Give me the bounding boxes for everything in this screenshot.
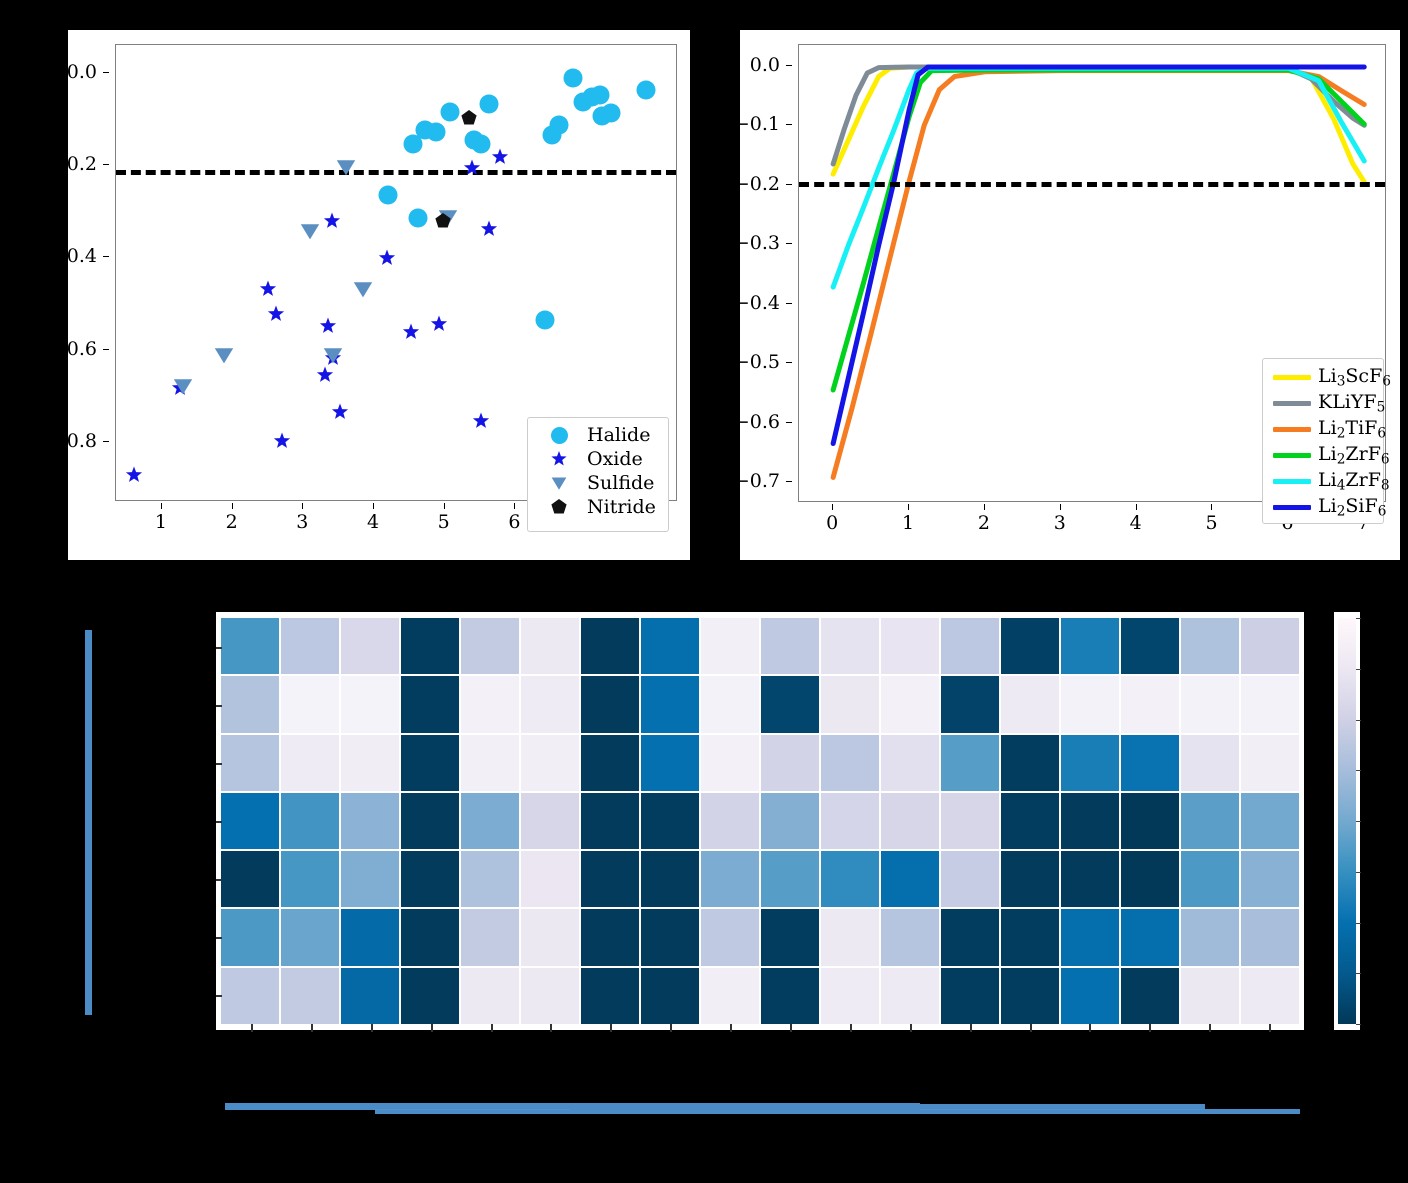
panel-b-xtick-mark <box>1136 504 1137 510</box>
colorbar-tick-label: −125 <box>1356 861 1408 883</box>
scatter-point-oxide <box>431 316 448 333</box>
heatmap-cell <box>401 676 459 732</box>
panel-b-xtick-mark <box>1211 504 1212 510</box>
heatmap-cell <box>881 968 939 1024</box>
scatter-point-halide <box>591 85 610 104</box>
scatter-point-nitride <box>461 110 477 126</box>
scatter-point-oxide <box>274 433 291 450</box>
panel-b-xtick-label: 4 <box>1130 512 1142 534</box>
panel-b-ytick-label: −0.6 <box>734 411 780 433</box>
heatmap-cell <box>941 909 999 965</box>
heatmap-cell <box>1181 735 1239 791</box>
legend-line-Li3ScF6 <box>1272 375 1312 380</box>
heatmap-cell <box>761 851 819 907</box>
heatmap-cell <box>521 735 579 791</box>
heatmap-cell <box>821 909 879 965</box>
legend-line-Li2ZrF6 <box>1272 453 1312 458</box>
legend-item-sulfide: Sulfide <box>537 471 659 495</box>
heatmap-cell <box>1061 851 1119 907</box>
heatmap-cell <box>1121 618 1179 674</box>
scatter-point-oxide <box>402 324 419 341</box>
heatmap-cell <box>461 676 519 732</box>
heatmap-col-tick <box>371 1024 373 1032</box>
heatmap-cell <box>701 968 759 1024</box>
panel-a-threshold-line <box>116 170 676 175</box>
scatter-point-oxide <box>259 280 276 297</box>
heatmap-cell <box>941 676 999 732</box>
legend-triangle-down-icon <box>551 475 567 491</box>
heatmap-col-ticks <box>221 1024 1299 1036</box>
heatmap-cell <box>1121 909 1179 965</box>
scatter-point-sulfide <box>214 345 234 365</box>
colorbar-tick-label: −175 <box>1356 962 1408 984</box>
heatmap-cell <box>1241 968 1299 1024</box>
scatter-point-sulfide <box>300 221 320 241</box>
panel-b-legend: Li3ScF6KLiYF5Li2TiF6Li2ZrF6Li4ZrF8Li2SiF… <box>1262 358 1384 524</box>
heatmap-cell <box>1061 676 1119 732</box>
heatmap-cell <box>701 909 759 965</box>
scatter-point-halide <box>564 69 583 88</box>
panel-a-ytick-label: 0.0 <box>67 61 97 83</box>
scatter-point-sulfide <box>353 279 373 299</box>
legend-marker-nitride <box>537 499 581 515</box>
scatter-point-oxide <box>473 413 490 430</box>
scatter-point-halide <box>379 186 398 205</box>
legend-label-Li2SiF6: Li2SiF6 <box>1318 495 1386 519</box>
heatmap-cell <box>221 968 279 1024</box>
heatmap-cell <box>281 793 339 849</box>
panel-a-xtick-label: 5 <box>438 511 450 533</box>
scatter-point-halide <box>472 135 491 154</box>
panel-b-xtick-mark <box>1060 504 1061 510</box>
scatter-point-oxide <box>431 316 448 333</box>
panel-b-xtick-label: 1 <box>902 512 914 534</box>
heatmap-cell <box>1241 618 1299 674</box>
panel-a-xtick-mark <box>302 503 303 509</box>
heatmap-cell <box>401 968 459 1024</box>
heatmap-cell <box>1001 735 1059 791</box>
heatmap-cell <box>821 735 879 791</box>
scatter-point-sulfide <box>214 345 234 365</box>
panel-b-ytick-mark <box>786 65 792 66</box>
panel-b-ytick-label: −0.3 <box>734 232 780 254</box>
scatter-point-oxide <box>332 403 349 420</box>
heatmap-cell <box>461 851 519 907</box>
scatter-point-oxide <box>316 367 333 384</box>
heatmap-cell <box>1121 851 1179 907</box>
heatmap-row-tick <box>216 937 222 939</box>
heatmap-cell <box>341 851 399 907</box>
colorbar-tick-label: −25 <box>1356 658 1403 680</box>
legend-line-Li2TiF6 <box>1272 427 1312 432</box>
colorbar-tick-label: −150 <box>1356 912 1408 934</box>
legend-marker-sulfide <box>537 475 581 491</box>
heatmap-cell <box>521 618 579 674</box>
panel-b-ytick-mark <box>786 481 792 482</box>
heatmap-cell <box>581 735 639 791</box>
heatmap-cell <box>1241 909 1299 965</box>
heatmap-col-tick <box>251 1024 253 1032</box>
heatmap-col-tick <box>790 1024 792 1032</box>
heatmap-cell <box>461 735 519 791</box>
colorbar-ticks: 0−25−50−75−100−125−150−175−200 <box>1338 618 1356 1024</box>
heatmap-cell <box>881 793 939 849</box>
scatter-point-halide <box>479 95 498 114</box>
heatmap-cell <box>881 851 939 907</box>
heatmap-cell <box>221 851 279 907</box>
scatter-point-sulfide <box>353 279 373 299</box>
heatmap-cell <box>1181 968 1239 1024</box>
heatmap-cell <box>1121 676 1179 732</box>
scatter-point-sulfide <box>173 376 193 396</box>
heatmap-cell <box>221 909 279 965</box>
heatmap-cell <box>701 618 759 674</box>
heatmap-cell <box>581 618 639 674</box>
heatmap-col-tick <box>491 1024 493 1032</box>
scatter-point-oxide <box>480 220 497 237</box>
heatmap-cell <box>881 676 939 732</box>
line-Li2ZrF6 <box>833 70 1364 390</box>
legend-line-swatch-Li2ZrF6 <box>1273 453 1311 458</box>
heatmap-cell <box>881 909 939 965</box>
heatmap-cell <box>1121 968 1179 1024</box>
heatmap-col-tick <box>1209 1024 1211 1032</box>
legend-star-icon <box>551 451 567 467</box>
heatmap-cell <box>341 793 399 849</box>
heatmap-cell <box>941 851 999 907</box>
legend-line-swatch-Li2TiF6 <box>1273 427 1311 432</box>
colorbar-tick-label: −50 <box>1356 709 1403 731</box>
legend-label-halide: Halide <box>587 424 650 446</box>
scatter-point-oxide <box>378 250 395 267</box>
heatmap-col-tick <box>1269 1024 1271 1032</box>
panel-b-ytick-mark <box>786 124 792 125</box>
heatmap-cell <box>581 793 639 849</box>
scatter-point-sulfide <box>323 345 343 365</box>
scatter-point-oxide <box>463 160 480 177</box>
colorbar-tick-label: −75 <box>1356 759 1403 781</box>
heatmap-cell <box>761 968 819 1024</box>
heatmap-col-tick <box>311 1024 313 1032</box>
heatmap-col-tick <box>1089 1024 1091 1032</box>
heatmap-cell <box>1181 793 1239 849</box>
heatmap-cell <box>521 793 579 849</box>
heatmap-row-ticks <box>216 618 222 1024</box>
heatmap-cell <box>1121 793 1179 849</box>
panel-a-xtick-label: 3 <box>296 511 308 533</box>
legend-item-halide: Halide <box>537 423 659 447</box>
heatmap-cell <box>1181 851 1239 907</box>
heatmap-cell <box>521 676 579 732</box>
heatmap-cell <box>341 968 399 1024</box>
scatter-point-halide <box>550 115 569 134</box>
heatmap-cell <box>821 968 879 1024</box>
scatter-point-oxide <box>323 213 340 230</box>
heatmap-cell <box>521 909 579 965</box>
panel-a-ytick-label: −0.6 <box>51 338 97 360</box>
heatmap-cell <box>1181 676 1239 732</box>
panel-a-xtick-mark <box>373 503 374 509</box>
heatmap-cell <box>581 851 639 907</box>
scatter-point-oxide <box>125 467 142 484</box>
heatmap-cell <box>401 735 459 791</box>
legend-label-Li2TiF6: Li2TiF6 <box>1318 417 1386 441</box>
heatmap-cell <box>221 793 279 849</box>
legend-label-Li4ZrF8: Li4ZrF8 <box>1318 469 1390 493</box>
panel-b-ytick-mark <box>786 243 792 244</box>
heatmap-cell <box>341 735 399 791</box>
legend-label-KLiYF5: KLiYF5 <box>1318 391 1385 415</box>
scatter-point-oxide <box>323 213 340 230</box>
heatmap-cell <box>1061 793 1119 849</box>
heatmap-cell <box>1001 851 1059 907</box>
legend-marker-halide <box>537 427 581 444</box>
heatmap-cell <box>1061 618 1119 674</box>
heatmap-cell <box>761 676 819 732</box>
heatmap-cell <box>281 676 339 732</box>
legend-line-swatch-Li4ZrF8 <box>1273 479 1311 484</box>
scatter-point-oxide <box>268 305 285 322</box>
scatter-point-halide <box>536 310 555 329</box>
panel-b-ytick-label: −0.7 <box>734 470 780 492</box>
legend-triangle-down-icon <box>551 475 567 491</box>
legend-circle-icon <box>551 427 568 444</box>
panel-a-ytick-label: −0.4 <box>51 245 97 267</box>
heatmap-cell <box>461 793 519 849</box>
panel-b-threshold-line <box>799 182 1385 187</box>
legend-line-Li2SiF6 <box>1272 505 1312 510</box>
heatmap-row-tick <box>216 879 222 881</box>
heatmap-cell <box>461 909 519 965</box>
scatter-point-oxide <box>480 220 497 237</box>
scatter-point-oxide <box>125 467 142 484</box>
heatmap-cell <box>1181 909 1239 965</box>
heatmap-cell <box>1241 676 1299 732</box>
panel-a-ytick-mark <box>103 441 109 442</box>
heatmap-cell <box>221 676 279 732</box>
legend-star-icon <box>551 451 567 467</box>
scatter-point-oxide <box>491 148 508 165</box>
heatmap-cell <box>761 618 819 674</box>
panel-b-ytick-mark <box>786 362 792 363</box>
panel-a-ytick-label: −0.8 <box>51 430 97 452</box>
legend-item-Li4ZrF8: Li4ZrF8 <box>1272 468 1374 494</box>
legend-item-Li3ScF6: Li3ScF6 <box>1272 364 1374 390</box>
panel-a-xtick-mark <box>161 503 162 509</box>
scatter-point-oxide <box>402 324 419 341</box>
panel-b-ytick-label: −0.5 <box>734 351 780 373</box>
heatmap-cell <box>761 735 819 791</box>
scatter-point-oxide <box>491 148 508 165</box>
legend-line-KLiYF5 <box>1272 401 1312 406</box>
heatmap-cell <box>1001 676 1059 732</box>
scatter-point-halide <box>427 122 446 141</box>
heatmap-cell <box>761 793 819 849</box>
heatmap-cell <box>641 676 699 732</box>
legend-marker-oxide <box>537 451 581 467</box>
heatmap-cell <box>461 618 519 674</box>
heatmap-colorbar: 0−25−50−75−100−125−150−175−200 <box>1338 618 1356 1024</box>
panel-b-ytick-area: 0.0−0.1−0.2−0.3−0.4−0.5−0.6−0.7 <box>740 44 792 502</box>
heatmap-cell <box>941 735 999 791</box>
heatmap-grid <box>221 618 1299 1024</box>
panel-b-xtick-mark <box>908 504 909 510</box>
heatmap-cell <box>581 909 639 965</box>
heatmap-cell <box>641 735 699 791</box>
heatmap-cell <box>401 618 459 674</box>
heatmap-cell <box>1061 909 1119 965</box>
heatmap-cell <box>281 735 339 791</box>
scatter-point-oxide <box>259 280 276 297</box>
panel-a-xtick-label: 6 <box>508 511 520 533</box>
heatmap-cell <box>341 909 399 965</box>
panel-b-ytick-mark <box>786 184 792 185</box>
heatmap-cell <box>821 676 879 732</box>
scatter-point-nitride <box>435 213 451 229</box>
legend-line-swatch-KLiYF5 <box>1273 401 1311 406</box>
legend-item-oxide: Oxide <box>537 447 659 471</box>
heatmap-cell <box>1061 735 1119 791</box>
legend-label-nitride: Nitride <box>587 496 656 518</box>
heatmap-col-tick <box>850 1024 852 1032</box>
scatter-point-halide <box>637 81 656 100</box>
heatmap-cell <box>581 968 639 1024</box>
heatmap-cell <box>1001 793 1059 849</box>
heatmap-cell <box>701 793 759 849</box>
heatmap-cell <box>1001 618 1059 674</box>
heatmap-cell <box>941 968 999 1024</box>
legend-label-sulfide: Sulfide <box>587 472 654 494</box>
heatmap-cell <box>221 618 279 674</box>
heatmap-cell <box>401 909 459 965</box>
legend-item-Li2ZrF6: Li2ZrF6 <box>1272 442 1374 468</box>
legend-item-Li2TiF6: Li2TiF6 <box>1272 416 1374 442</box>
heatmap-col-tick <box>610 1024 612 1032</box>
legend-pentagon-icon <box>551 499 567 515</box>
heatmap-cell <box>641 909 699 965</box>
heatmap-cell <box>821 851 879 907</box>
panel-a-xtick-label: 2 <box>226 511 238 533</box>
heatmap-row-tick <box>216 763 222 765</box>
heatmap-cell <box>881 735 939 791</box>
heatmap-cell <box>881 618 939 674</box>
heatmap-cell <box>821 618 879 674</box>
scatter-point-sulfide <box>173 376 193 396</box>
legend-label-Li3ScF6: Li3ScF6 <box>1318 365 1391 389</box>
heatmap-cell <box>1121 735 1179 791</box>
panel-b-ytick-label: −0.4 <box>734 292 780 314</box>
legend-line-swatch-Li2SiF6 <box>1273 505 1311 510</box>
heatmap-col-tick <box>550 1024 552 1032</box>
panel-a-xtick-label: 1 <box>155 511 167 533</box>
legend-item-nitride: Nitride <box>537 495 659 519</box>
panel-a-xtick-label: 4 <box>367 511 379 533</box>
scatter-point-sulfide <box>336 157 356 177</box>
heatmap-col-tick <box>670 1024 672 1032</box>
legend-label-oxide: Oxide <box>587 448 643 470</box>
heatmap-row-tick <box>216 647 222 649</box>
heatmap-cell <box>521 968 579 1024</box>
heatmap-ylabel-mask <box>85 630 92 1015</box>
panel-a-ytick-label: −0.2 <box>51 153 97 175</box>
panel-a-ytick-mark <box>103 349 109 350</box>
panel-b-xtick-mark <box>832 504 833 510</box>
scatter-point-oxide <box>332 403 349 420</box>
scatter-point-oxide <box>316 367 333 384</box>
heatmap-cell <box>1001 909 1059 965</box>
heatmap-cell <box>701 735 759 791</box>
panel-a-ytick-mark <box>103 256 109 257</box>
heatmap-cell <box>281 851 339 907</box>
heatmap-cell <box>281 909 339 965</box>
heatmap-cell <box>641 851 699 907</box>
heatmap-cell <box>341 618 399 674</box>
heatmap-cell <box>1241 735 1299 791</box>
scatter-point-sulfide <box>336 157 356 177</box>
scatter-point-halide <box>441 102 460 121</box>
scatter-point-halide <box>601 104 620 123</box>
heatmap-cell <box>1241 851 1299 907</box>
panel-b-ytick-mark <box>786 303 792 304</box>
scatter-point-oxide <box>378 250 395 267</box>
panel-b-ytick-label: −0.2 <box>734 173 780 195</box>
heatmap-row-tick <box>216 995 222 997</box>
heatmap-cell <box>641 968 699 1024</box>
heatmap-cell <box>401 793 459 849</box>
panel-a-ytick-mark <box>103 72 109 73</box>
colorbar-tick-label: −100 <box>1356 810 1408 832</box>
heatmap-cell <box>221 735 279 791</box>
panel-b-xtick-label: 3 <box>1054 512 1066 534</box>
panel-a-xtick-mark <box>444 503 445 509</box>
scatter-point-oxide <box>320 317 337 334</box>
heatmap-cell <box>1181 618 1239 674</box>
heatmap-cell <box>1241 793 1299 849</box>
panel-b-ytick-label: −0.1 <box>734 113 780 135</box>
legend-pentagon-icon <box>551 499 567 515</box>
panel-b-ytick-label: 0.0 <box>750 54 780 76</box>
scatter-point-nitride <box>461 110 477 126</box>
panel-a-ytick-area: 0.0−0.2−0.4−0.6−0.8 <box>68 44 109 501</box>
panel-a-xtick-mark <box>514 503 515 509</box>
panel-b-xtick-label: 2 <box>978 512 990 534</box>
scatter-point-oxide <box>274 433 291 450</box>
heatmap-cell <box>641 793 699 849</box>
heatmap-col-tick <box>1149 1024 1151 1032</box>
scatter-point-oxide <box>268 305 285 322</box>
heatmap-col-tick <box>910 1024 912 1032</box>
legend-line-Li4ZrF8 <box>1272 479 1312 484</box>
panel-a-ytick-mark <box>103 164 109 165</box>
heatmap-cell <box>461 968 519 1024</box>
heatmap-cell <box>341 676 399 732</box>
heatmap-row-tick <box>216 705 222 707</box>
heatmap-col-tick <box>730 1024 732 1032</box>
heatmap-cell <box>521 851 579 907</box>
panel-b-ytick-mark <box>786 422 792 423</box>
heatmap-cell <box>281 968 339 1024</box>
colorbar-tick-label: −200 <box>1356 1013 1408 1035</box>
heatmap-cell <box>941 618 999 674</box>
scatter-point-oxide <box>473 413 490 430</box>
scatter-point-sulfide <box>300 221 320 241</box>
panel-a-xtick-mark <box>232 503 233 509</box>
panel-b-xtick-mark <box>984 504 985 510</box>
scatter-point-oxide <box>320 317 337 334</box>
panel-b-xtick-label: 0 <box>826 512 838 534</box>
heatmap-cell <box>641 618 699 674</box>
heatmap-cell <box>1061 968 1119 1024</box>
